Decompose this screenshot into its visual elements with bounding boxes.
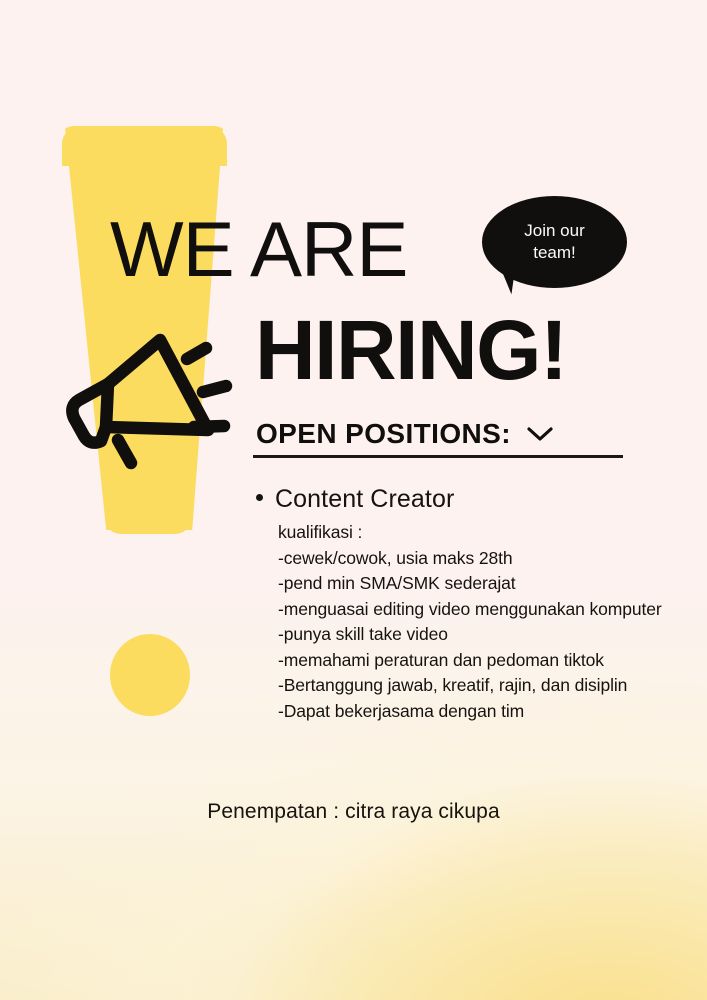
bullet-icon: [256, 494, 263, 501]
qualification-item: -pend min SMA/SMK sederajat: [278, 571, 704, 597]
badge-line-1: Join our: [524, 220, 584, 242]
speech-bubble-text: Join our team!: [482, 196, 627, 288]
qualification-item: -cewek/cowok, usia maks 28th: [278, 546, 704, 572]
qualifications-list: kualifikasi : -cewek/cowok, usia maks 28…: [256, 520, 704, 724]
job-title-row: Content Creator: [256, 485, 704, 514]
headline-hiring: HIRING!: [255, 308, 566, 392]
chevron-down-icon[interactable]: [525, 418, 555, 450]
qualification-item: -punya skill take video: [278, 622, 704, 648]
placement-text: Penempatan : citra raya cikupa: [0, 800, 707, 824]
job-listing: Content Creator kualifikasi : -cewek/cow…: [256, 485, 704, 724]
job-title: Content Creator: [275, 485, 454, 514]
headline-we-are: WE ARE: [110, 210, 407, 288]
qualification-item: -Dapat bekerjasama dengan tim: [278, 699, 704, 725]
qualification-item: -menguasai editing video menggunakan kom…: [278, 597, 704, 623]
badge-line-2: team!: [533, 242, 576, 264]
exclamation-mark-dot: [110, 634, 190, 716]
megaphone-icon: [56, 326, 236, 476]
open-positions-divider: [253, 455, 623, 458]
qualification-item: -Bertanggung jawab, kreatif, rajin, dan …: [278, 673, 704, 699]
qualification-item: -memahami peraturan dan pedoman tiktok: [278, 648, 704, 674]
exclamation-mark-stem-foot: [105, 492, 191, 534]
qualifications-label: kualifikasi :: [278, 520, 704, 546]
open-positions-header: OPEN POSITIONS:: [256, 418, 555, 450]
open-positions-label: OPEN POSITIONS:: [256, 418, 511, 450]
join-our-team-badge: Join our team!: [470, 196, 630, 314]
exclamation-mark-stem-cap: [62, 126, 227, 166]
hiring-poster: WE ARE HIRING! Join our team! OPEN POSIT…: [0, 0, 707, 1000]
